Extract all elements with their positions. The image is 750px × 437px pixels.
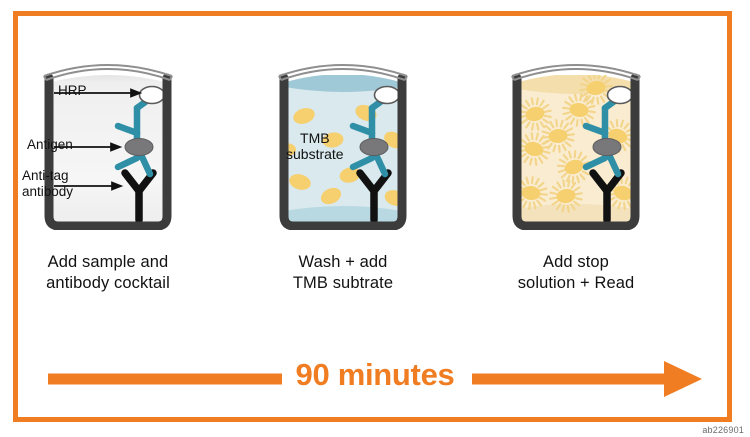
step-1-column: HRP Antigen Anti-tag antibody Add sample… [8, 30, 208, 230]
label-tmb-line-1: TMB [286, 130, 344, 146]
antigen-icon [125, 139, 153, 156]
step-2-caption-line-2: TMB subtrate [243, 273, 443, 294]
catalog-code: ab226901 [702, 425, 744, 435]
label-anti-tag-antibody: Anti-tag antibody [22, 168, 73, 199]
step-2-caption: Wash + add TMB subtrate [243, 252, 443, 294]
step-2-caption-line-1: Wash + add [243, 252, 443, 273]
timeline-label: 90 minutes [40, 355, 710, 395]
well-3 [476, 30, 676, 230]
step-3-caption-line-1: Add stop [476, 252, 676, 273]
step-3-column: Add stop solution + Read [476, 30, 676, 230]
step-1-caption-line-2: antibody cocktail [8, 273, 208, 294]
well-1-graphic [8, 30, 208, 230]
label-antigen: Antigen [27, 137, 73, 152]
step-3-caption-line-2: solution + Read [476, 273, 676, 294]
label-antigen-line-1: Antigen [27, 137, 73, 152]
diagram-stage: HRP Antigen Anti-tag antibody Add sample… [0, 0, 750, 437]
timeline: 90 minutes [40, 355, 710, 401]
antigen-icon [360, 139, 388, 156]
label-tmb-line-2: substrate [286, 146, 344, 162]
antigen-icon [593, 139, 621, 156]
hrp-icon [140, 87, 165, 104]
hrp-icon [608, 87, 633, 104]
label-anti-tag-line-1: Anti-tag [22, 168, 73, 184]
step-2-column: TMB substrate Wash + add TMB subtrate [243, 30, 443, 230]
step-3-caption: Add stop solution + Read [476, 252, 676, 294]
well-2: TMB substrate [243, 30, 443, 230]
label-hrp: HRP [58, 83, 87, 98]
well-3-graphic [476, 30, 676, 230]
step-1-caption: Add sample and antibody cocktail [8, 252, 208, 294]
well-1: HRP Antigen Anti-tag antibody [8, 30, 208, 230]
label-tmb-substrate: TMB substrate [286, 130, 344, 162]
label-anti-tag-line-2: antibody [22, 184, 73, 200]
hrp-icon [375, 87, 400, 104]
step-1-caption-line-1: Add sample and [8, 252, 208, 273]
elisa-workflow-figure: HRP Antigen Anti-tag antibody Add sample… [0, 0, 750, 437]
label-hrp-line-1: HRP [58, 83, 87, 98]
